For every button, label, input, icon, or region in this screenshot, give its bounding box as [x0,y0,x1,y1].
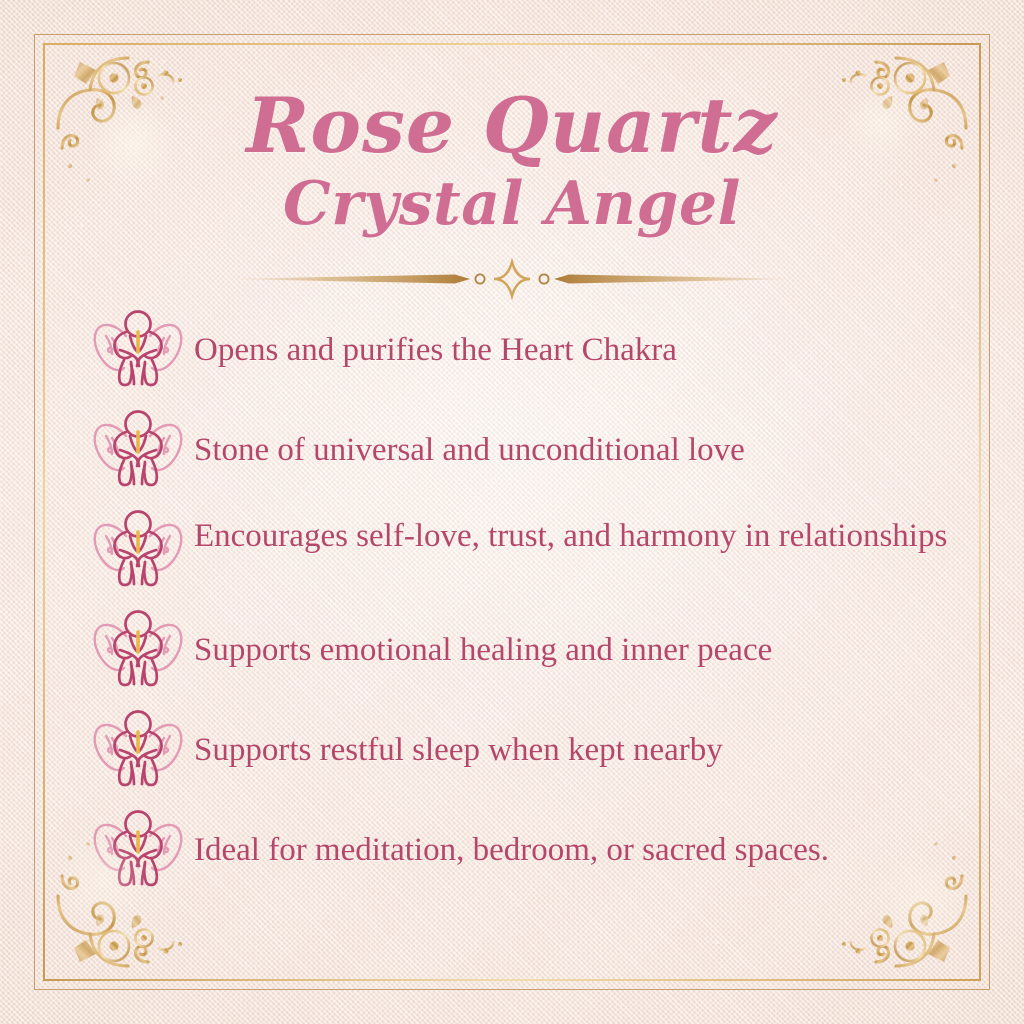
list-item-text: Supports restful sleep when kept nearby [194,706,968,772]
list-item: Stone of universal and unconditional lov… [90,406,968,490]
gold-diamond-divider-icon [0,258,1024,300]
crystal-info-card: Rose Quartz Crystal Angel [0,0,1024,1024]
list-item-text: Stone of universal and unconditional lov… [194,406,968,472]
list-item-text: Opens and purifies the Heart Chakra [194,306,968,372]
list-item: Encourages self-love, trust, and harmony… [90,506,968,590]
list-item-text: Encourages self-love, trust, and harmony… [194,506,968,558]
angel-icon [90,506,186,590]
angel-icon [90,406,186,490]
angel-icon [90,706,186,790]
card-heading-group: Rose Quartz Crystal Angel [0,88,1024,234]
list-item: Supports emotional healing and inner pea… [90,606,968,690]
angel-icon [90,306,186,390]
benefits-list: Opens and purifies the Heart Chakra [90,306,968,906]
list-item: Ideal for meditation, bedroom, or sacred… [90,806,968,890]
page-title: Rose Quartz [0,88,1024,164]
page-subtitle: Crystal Angel [0,174,1024,234]
list-item-text: Supports emotional healing and inner pea… [194,606,968,672]
list-item: Opens and purifies the Heart Chakra [90,306,968,390]
list-item-text: Ideal for meditation, bedroom, or sacred… [194,806,968,872]
angel-icon [90,606,186,690]
list-item: Supports restful sleep when kept nearby [90,706,968,790]
angel-icon [90,806,186,890]
